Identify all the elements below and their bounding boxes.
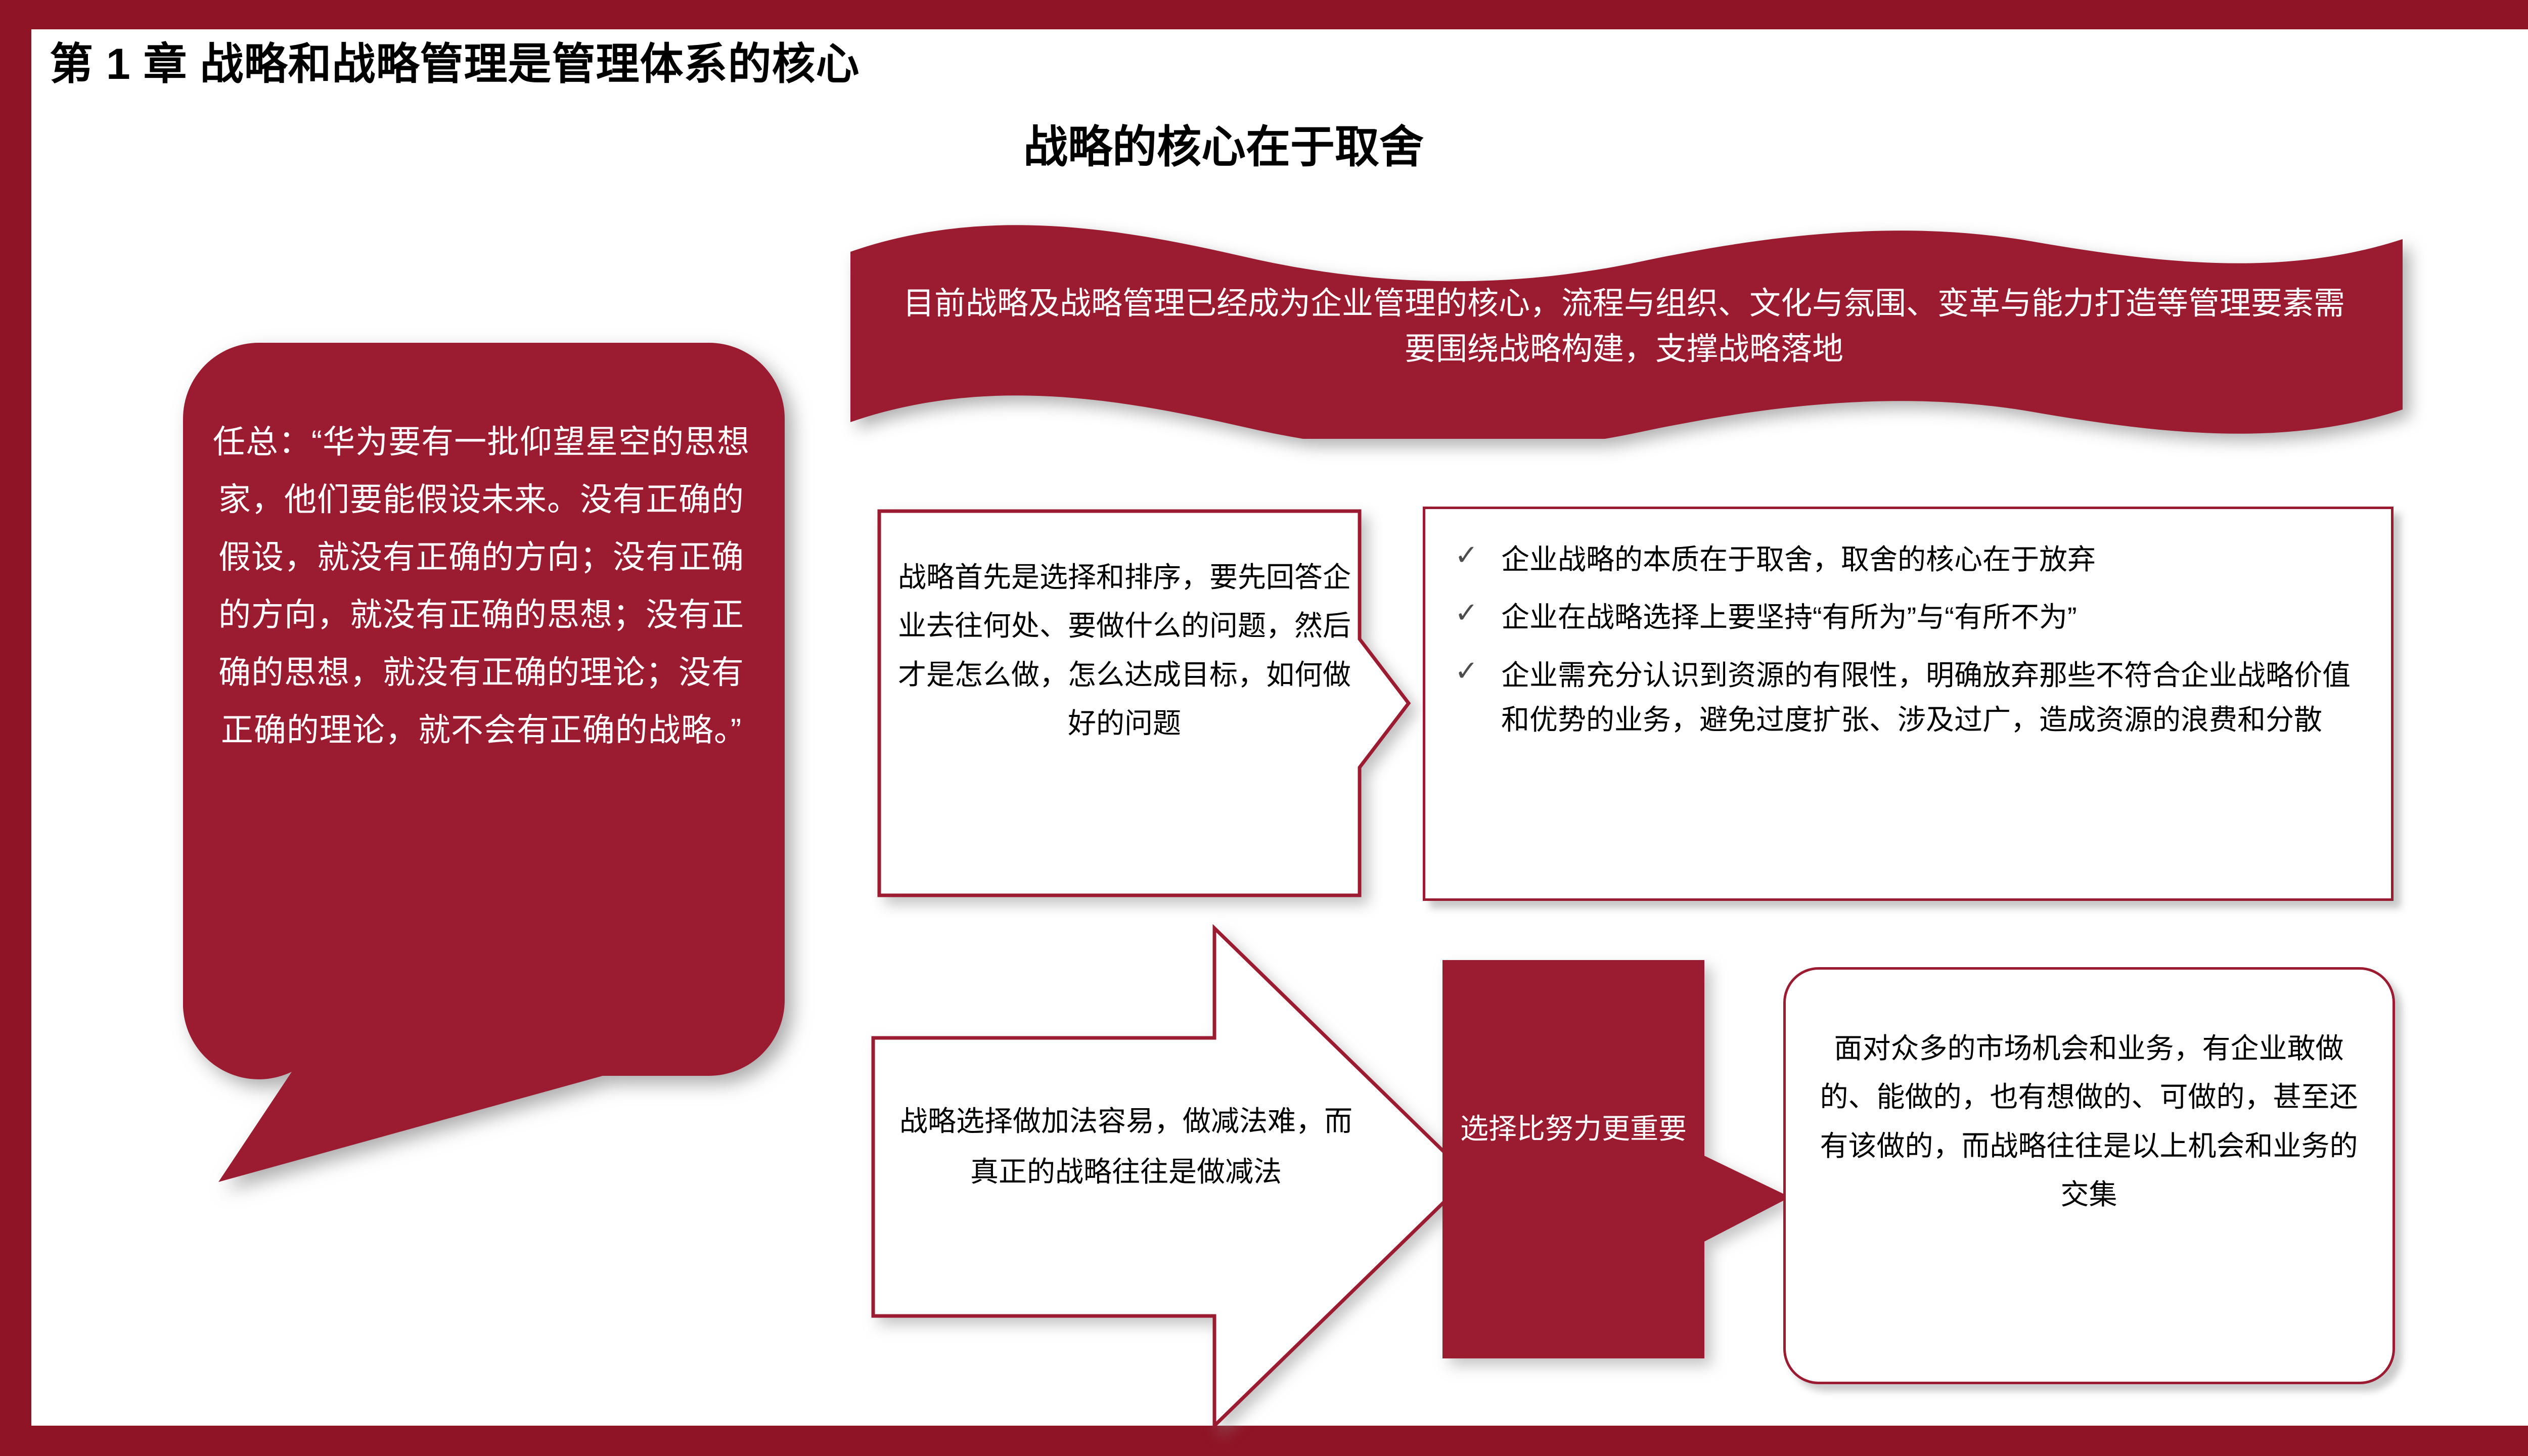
red-callout-shape (1442, 960, 1791, 1359)
check-icon: ✓ (1449, 595, 1501, 630)
list-item-label: 企业在战略选择上要坚持“有所为”与“有所不为” (1501, 595, 2368, 640)
list-item: ✓ 企业战略的本质在于取舍，取舍的核心在于放弃 (1449, 537, 2368, 582)
page-title: 第 1 章 战略和战略管理是管理体系的核心 (50, 40, 860, 88)
list-item: ✓ 企业需充分认识到资源的有限性，明确放弃那些不符合企业战略价值和优势的业务，避… (1449, 653, 2368, 743)
red-callout: 选择比努力更重要 (1442, 960, 1791, 1359)
right-arrow-text: 战略选择做加法容易，做减法难，而真正的战略往往是做减法 (898, 1096, 1353, 1197)
check-icon: ✓ (1449, 653, 1501, 689)
slide-frame: 第 1 章 战略和战略管理是管理体系的核心 战略的核心在于取舍 目前战略及战略管… (0, 0, 2528, 1456)
list-item-label: 企业需充分认识到资源的有限性，明确放弃那些不符合企业战略价值和优势的业务，避免过… (1501, 653, 2368, 743)
right-arrow-callout: 战略选择做加法容易，做减法难，而真正的战略往往是做减法 (871, 924, 1472, 1430)
ribbon-banner: 目前战略及战略管理已经成为企业管理的核心，流程与组织、文化与氛围、变革与能力打造… (850, 221, 2403, 439)
pentagon-callout-text: 战略首先是选择和排序，要先回答企业去往何处、要做什么的问题，然后才是怎么做，怎么… (897, 553, 1352, 748)
outcome-panel-text: 面对众多的市场机会和业务，有企业敢做的、能做的，也有想做的、可做的，甚至还有该做… (1817, 1024, 2361, 1219)
quote-bubble-text: 任总：“华为要有一批仰望星空的思想家，他们要能假设未来。没有正确的假设，就没有正… (208, 414, 754, 759)
pentagon-callout: 战略首先是选择和排序，要先回答企业去往何处、要做什么的问题，然后才是怎么做，怎么… (877, 509, 1413, 898)
section-heading: 战略的核心在于取舍 (0, 123, 2481, 172)
list-item-label: 企业战略的本质在于取舍，取舍的核心在于放弃 (1501, 537, 2368, 582)
red-callout-text: 选择比努力更重要 (1452, 1106, 1695, 1152)
checklist-panel: ✓ 企业战略的本质在于取舍，取舍的核心在于放弃 ✓ 企业在战略选择上要坚持“有所… (1423, 507, 2394, 901)
outcome-panel: 面对众多的市场机会和业务，有企业敢做的、能做的，也有想做的、可做的，甚至还有该做… (1783, 967, 2395, 1384)
slide-canvas: 第 1 章 战略和战略管理是管理体系的核心 战略的核心在于取舍 目前战略及战略管… (31, 29, 2528, 1426)
quote-speech-bubble: 任总：“华为要有一批仰望星空的思想家，他们要能假设未来。没有正确的假设，就没有正… (183, 312, 820, 1233)
check-icon: ✓ (1449, 537, 1501, 573)
list-item: ✓ 企业在战略选择上要坚持“有所为”与“有所不为” (1449, 595, 2368, 640)
ribbon-banner-text: 目前战略及战略管理已经成为企业管理的核心，流程与组织、文化与氛围、变革与能力打造… (891, 281, 2357, 372)
